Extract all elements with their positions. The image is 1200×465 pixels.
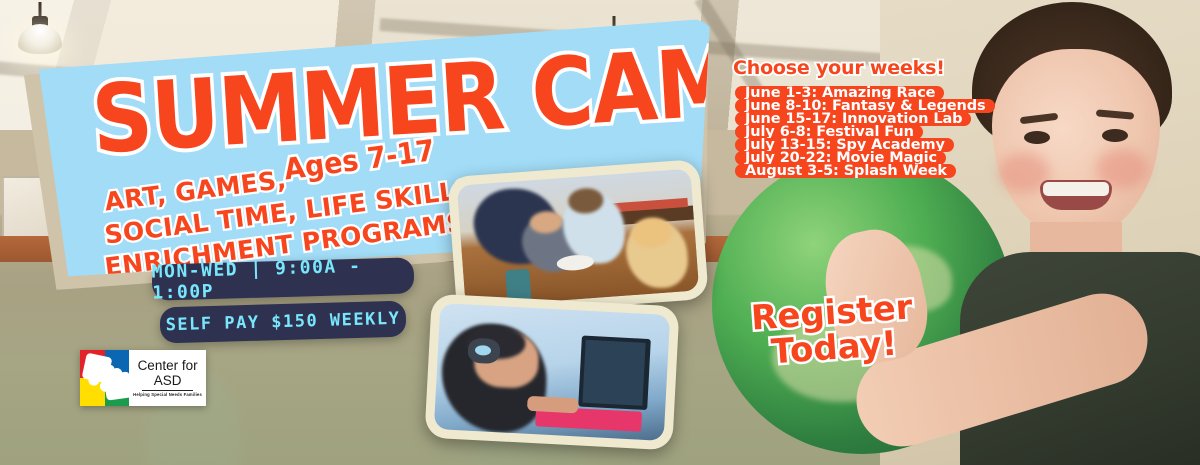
register-cta-label: Register Today!: [750, 287, 914, 372]
photo-craft-activity: [447, 159, 709, 317]
summer-camp-promo-banner: SUMMER CAMP ART, GAMES, SOCIAL TIME, LIF…: [0, 0, 1200, 465]
logo-divider: [142, 390, 193, 391]
puzzle-piece-icon: [80, 350, 129, 406]
schedule-pill: MON-WED | 9:00A - 1:00P: [152, 257, 415, 300]
center-for-asd-logo: Center for ASD Helping Special Needs Fam…: [80, 350, 206, 406]
register-cta[interactable]: Register Today!: [736, 289, 930, 371]
week-item[interactable]: August 3-5: Splash Week: [735, 164, 956, 178]
photo-gaming-activity: [424, 294, 679, 451]
logo-line-1: Center for: [138, 359, 198, 373]
logo-tagline: Helping Special Needs Families: [133, 392, 202, 397]
logo-line-2: ASD: [154, 374, 182, 388]
weeks-heading: Choose your weeks!: [733, 57, 945, 79]
mouth: [1040, 180, 1112, 210]
price-pill: SELF PAY $150 WEEKLY: [160, 301, 407, 344]
weeks-list: June 1-3: Amazing RaceJune 8-10: Fantasy…: [735, 86, 965, 177]
